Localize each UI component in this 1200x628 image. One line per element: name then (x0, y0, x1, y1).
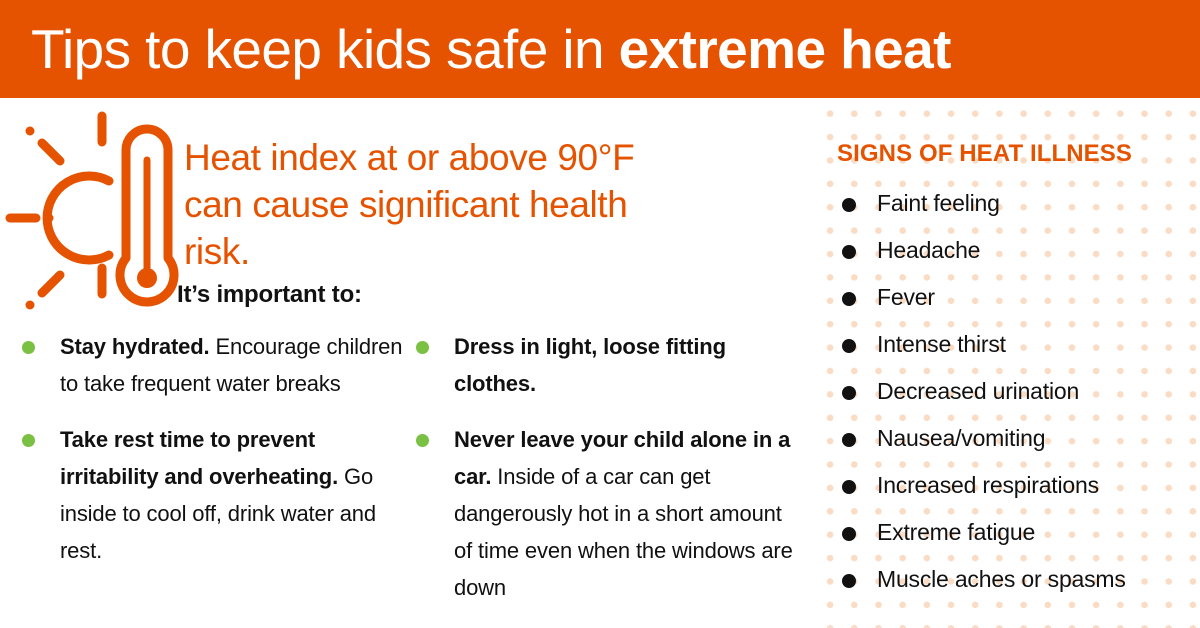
list-item: Decreased urination (837, 368, 1193, 415)
important-to-label: It’s important to: (177, 280, 362, 310)
signs-of-heat-illness-panel: SIGNS OF HEAT ILLNESS Faint feeling Head… (812, 98, 1200, 628)
header-banner: Tips to keep kids safe in extreme heat (0, 0, 1200, 98)
tip-headline: Take rest time to prevent irritability a… (60, 427, 338, 489)
page-title-emphasis: extreme heat (619, 18, 951, 80)
black-bullet-icon (842, 433, 856, 447)
list-item: Headache (837, 227, 1193, 274)
list-item: Nausea/vomiting (837, 415, 1193, 462)
black-bullet-icon (842, 198, 856, 212)
list-item: Increased respirations (837, 462, 1193, 509)
infographic-poster: Tips to keep kids safe in extreme heat (0, 0, 1200, 628)
sun-ray-lower-left (42, 275, 60, 293)
black-bullet-icon (842, 527, 856, 541)
tip-body: Inside of a car can get dangerously hot … (454, 464, 793, 600)
list-item-label: Decreased urination (877, 378, 1079, 404)
black-bullet-icon (842, 480, 856, 494)
sun-thermometer-icon (4, 108, 180, 313)
tip-item: Take rest time to prevent irritability a… (18, 421, 404, 569)
sun-ray-left-dot (45, 214, 54, 223)
list-item: Faint feeling (837, 180, 1193, 227)
list-item: Muscle aches or spasms (837, 556, 1193, 603)
list-item-label: Extreme fatigue (877, 519, 1035, 545)
list-item-label: Headache (877, 237, 980, 263)
list-item-label: Fever (877, 284, 935, 310)
tip-headline: Stay hydrated. (60, 334, 210, 359)
page-title: Tips to keep kids safe in extreme heat (31, 14, 951, 84)
page-title-regular: Tips to keep kids safe in (31, 18, 619, 80)
tip-item: Never leave your child alone in a car. I… (412, 421, 800, 606)
sun-ray-upper-left-dot (26, 127, 35, 136)
tips-column-right: Dress in light, loose fitting clothes. N… (412, 328, 800, 625)
list-item-label: Nausea/vomiting (877, 425, 1045, 451)
list-item: Fever (837, 274, 1193, 321)
main-content-area: Heat index at or above 90°F can cause si… (0, 98, 812, 628)
black-bullet-icon (842, 245, 856, 259)
signs-list: Faint feeling Headache Fever Intense thi… (837, 180, 1193, 603)
tip-item: Stay hydrated. Encourage children to tak… (18, 328, 404, 402)
black-bullet-icon (842, 386, 856, 400)
black-bullet-icon (842, 292, 856, 306)
heat-index-statement: Heat index at or above 90°F can cause si… (184, 134, 654, 275)
tip-item: Dress in light, loose fitting clothes. (412, 328, 800, 402)
black-bullet-icon (842, 574, 856, 588)
green-bullet-icon (22, 341, 35, 354)
tips-columns: Stay hydrated. Encourage children to tak… (0, 328, 812, 628)
tip-headline: Dress in light, loose fitting clothes. (454, 334, 726, 396)
sun-arc (47, 176, 109, 260)
sun-ray-upper-left (42, 143, 60, 161)
list-item: Extreme fatigue (837, 509, 1193, 556)
list-item-label: Intense thirst (877, 331, 1006, 357)
list-item-label: Muscle aches or spasms (877, 566, 1126, 592)
signs-panel-title: SIGNS OF HEAT ILLNESS (837, 140, 1132, 168)
green-bullet-icon (416, 341, 429, 354)
list-item: Intense thirst (837, 321, 1193, 368)
thermometer-bulb (137, 268, 157, 288)
black-bullet-icon (842, 339, 856, 353)
green-bullet-icon (22, 434, 35, 447)
green-bullet-icon (416, 434, 429, 447)
sun-ray-lower-left-dot (26, 301, 35, 310)
list-item-label: Faint feeling (877, 190, 1000, 216)
tips-column-left: Stay hydrated. Encourage children to tak… (18, 328, 404, 588)
list-item-label: Increased respirations (877, 472, 1099, 498)
